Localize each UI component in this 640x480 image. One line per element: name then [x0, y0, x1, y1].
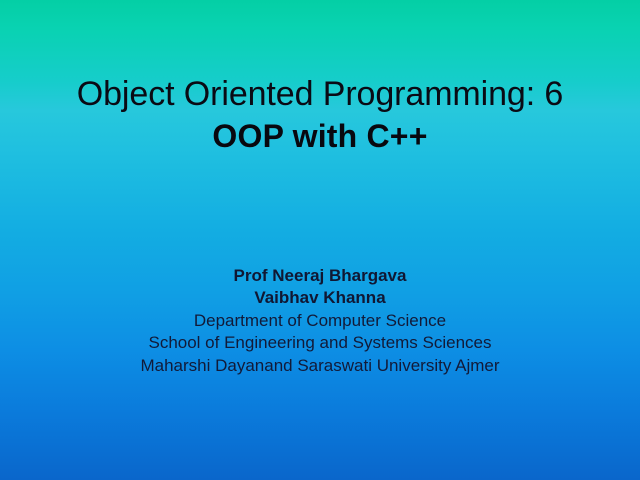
slide-title-block: Object Oriented Programming: 6 OOP with …: [0, 72, 640, 156]
slide-title-line-1: Object Oriented Programming: 6: [0, 72, 640, 116]
subtitle-line-university: Maharshi Dayanand Saraswati University A…: [0, 355, 640, 377]
subtitle-line-school: School of Engineering and Systems Scienc…: [0, 332, 640, 354]
subtitle-line-department: Department of Computer Science: [0, 310, 640, 332]
presentation-slide: Object Oriented Programming: 6 OOP with …: [0, 0, 640, 480]
subtitle-line-presenter-1: Prof Neeraj Bhargava: [0, 265, 640, 287]
slide-title-line-2: OOP with C++: [0, 116, 640, 156]
subtitle-line-presenter-2: Vaibhav Khanna: [0, 287, 640, 309]
slide-subtitle-block: Prof Neeraj Bhargava Vaibhav Khanna Depa…: [0, 265, 640, 377]
